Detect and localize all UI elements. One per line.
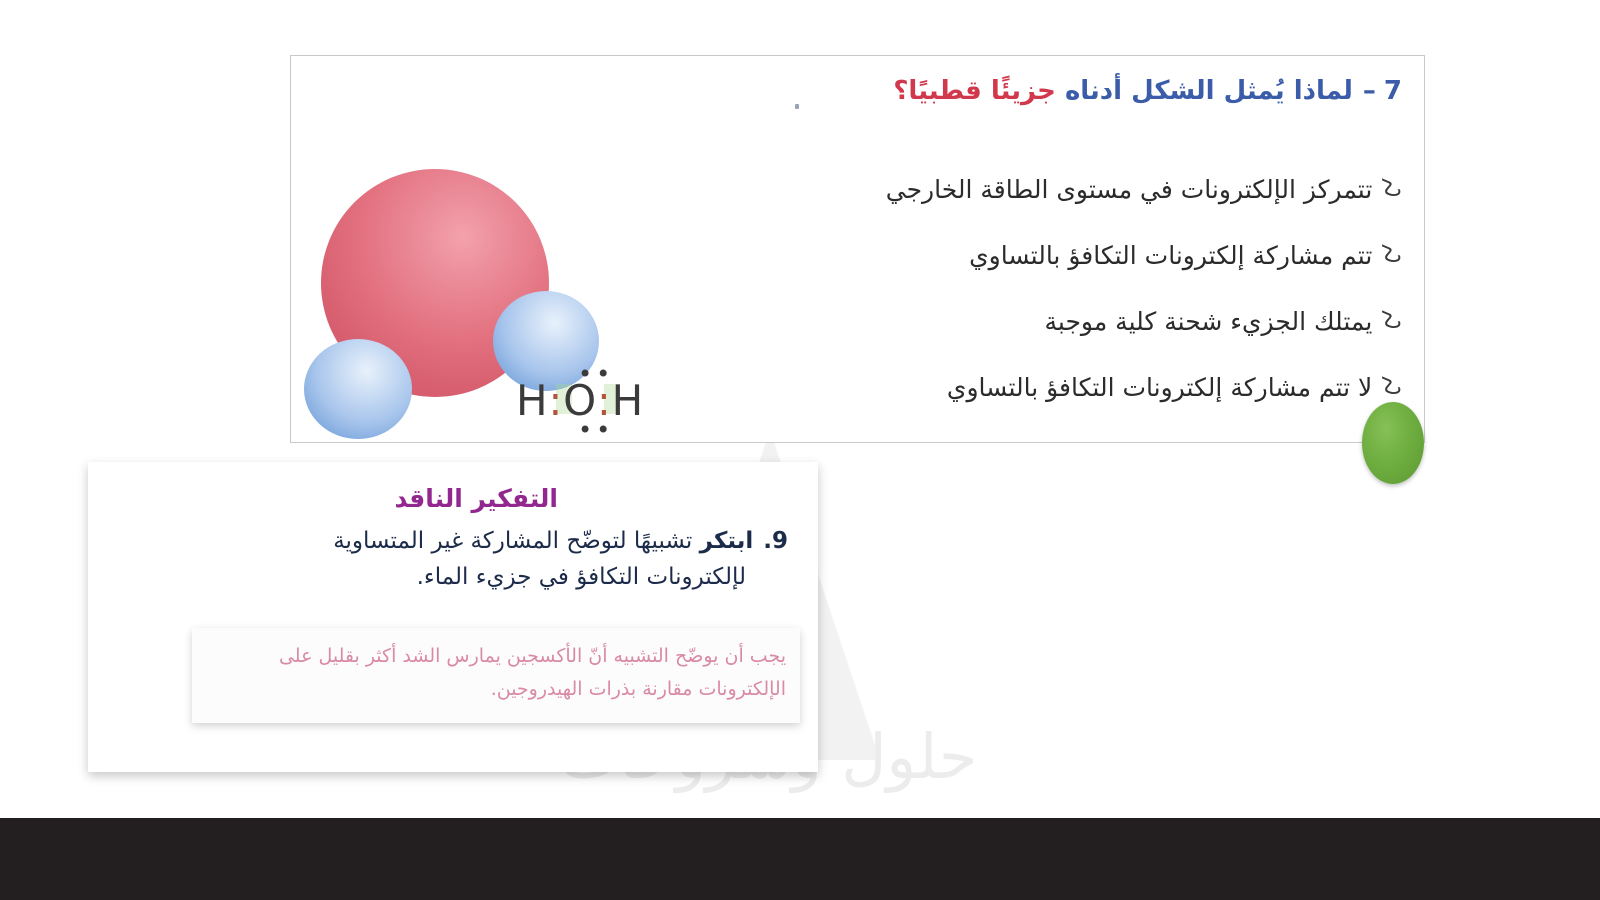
critical-thinking-item-9: 9.ابتكر تشبيهًا لتوضّح المشاركة غير المت… — [148, 524, 788, 595]
item-number: 9. — [763, 528, 788, 554]
question-text-highlight: جزيئًا قطبيًا؟ — [893, 76, 1056, 106]
answer-line-1: يجب أن يوضّح التشبيه أنّ الأكسجين يمارس … — [279, 645, 786, 667]
question-text-plain: لماذا يُمثل الشكل أدناه — [1065, 76, 1353, 106]
answer-option-3[interactable]: ک يمتلك الجزيء شحنة كلية موجبة — [842, 288, 1402, 354]
lewis-h-right: H — [612, 376, 645, 425]
question-heading: 7–لماذا يُمثل الشكل أدناه جزيئًا قطبيًا؟ — [893, 76, 1402, 106]
hand-pointer-icon: ک — [1382, 178, 1402, 200]
screenshot-root: حلول وشروحات 7–لماذا يُمثل الشكل أدناه ج… — [0, 0, 1600, 900]
lone-pair-bottom: •• — [578, 418, 614, 442]
hydrogen-atom-sphere-left — [304, 339, 412, 439]
item-verb: ابتكر — [700, 528, 754, 554]
bottom-bar — [0, 818, 1600, 900]
item-line1: تشبيهًا لتوضّح المشاركة غير المتساوية — [333, 528, 692, 554]
answer-option-2-label: تتم مشاركة إلكترونات التكافؤ بالتساوي — [969, 241, 1372, 270]
lewis-structure: •• H:O:H •• — [516, 356, 656, 436]
answer-option-4[interactable]: ک لا تتم مشاركة إلكترونات التكافؤ بالتسا… — [842, 354, 1402, 420]
hand-pointer-icon: ک — [1382, 310, 1402, 332]
green-oval-answer-marker — [1362, 402, 1424, 484]
water-molecule-diagram: •• H:O:H •• — [301, 151, 681, 441]
item-line2: لإلكترونات التكافؤ في جزيء الماء. — [148, 560, 788, 596]
lewis-bond-left: : — [549, 379, 563, 425]
answer-option-4-label: لا تتم مشاركة إلكترونات التكافؤ بالتساوي — [947, 373, 1372, 402]
question-dash: – — [1363, 76, 1376, 106]
hand-pointer-icon: ک — [1382, 376, 1402, 398]
answer-option-3-label: يمتلك الجزيء شحنة كلية موجبة — [1045, 307, 1373, 336]
answer-line-2: الإلكترونات مقارنة بذرات الهيدروجين. — [491, 678, 786, 700]
question-card: 7–لماذا يُمثل الشكل أدناه جزيئًا قطبيًا؟… — [290, 55, 1425, 443]
answer-option-1-label: تتمركز الإلكترونات في مستوى الطاقة الخار… — [886, 175, 1373, 204]
hand-pointer-icon: ک — [1382, 244, 1402, 266]
answer-options-list: ک تتمركز الإلكترونات في مستوى الطاقة الخ… — [842, 156, 1402, 420]
handwritten-answer-box: يجب أن يوضّح التشبيه أنّ الأكسجين يمارس … — [192, 628, 800, 723]
critical-thinking-title: التفكير الناقد — [394, 484, 558, 513]
critical-thinking-card: التفكير الناقد 9.ابتكر تشبيهًا لتوضّح ال… — [88, 462, 818, 772]
lewis-h-left: H — [516, 376, 549, 425]
stray-mark — [795, 104, 799, 109]
answer-option-2[interactable]: ک تتم مشاركة إلكترونات التكافؤ بالتساوي — [842, 222, 1402, 288]
answer-option-1[interactable]: ک تتمركز الإلكترونات في مستوى الطاقة الخ… — [842, 156, 1402, 222]
question-number: 7 — [1384, 76, 1402, 106]
answer-text: يجب أن يوضّح التشبيه أنّ الأكسجين يمارس … — [208, 640, 786, 707]
